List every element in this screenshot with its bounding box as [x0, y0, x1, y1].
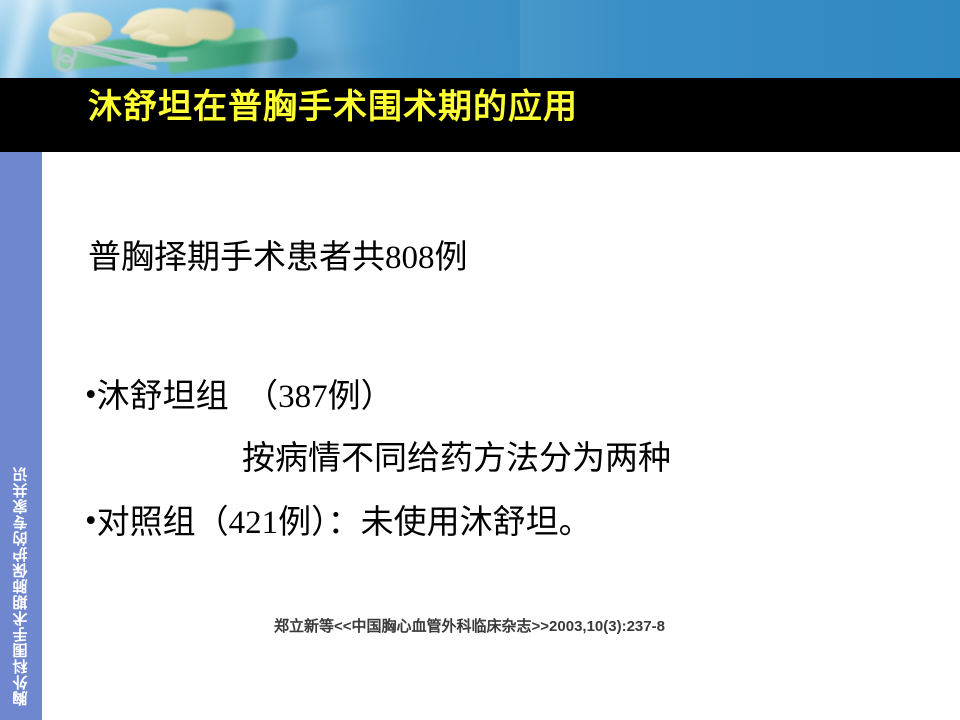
sidebar: 胸外科围手术期肺保护的专家共识: [0, 152, 42, 720]
surgery-photo: [0, 0, 520, 78]
bullet-marker-icon: •: [85, 377, 97, 413]
photo-blue-fade: [0, 0, 520, 78]
source-citation: 郑立新等<<中国胸心血管外科临床杂志>>2003,10(3):237-8: [274, 615, 665, 636]
bullet-text: 沐舒坦组 （387例）: [97, 379, 394, 415]
treatment-group-detail: 按病情不同给药方法分为两种: [242, 438, 671, 480]
bullet-item-treatment-group: •沐舒坦组 （387例）: [85, 374, 394, 418]
header-blue-fill: [480, 0, 960, 78]
slide-body: 普胸择期手术患者共808例 •沐舒坦组 （387例） 按病情不同给药方法分为两种…: [42, 152, 960, 720]
title-banner: 沐舒坦在普胸手术围术期的应用: [0, 78, 960, 152]
bullet-marker-icon: •: [85, 503, 97, 539]
bullet-item-control-group: •对照组（421例）：未使用沐舒坦。: [85, 500, 592, 544]
lead-statement: 普胸择期手术患者共808例: [88, 237, 468, 279]
presentation-slide: 沐舒坦在普胸手术围术期的应用 胸外科围手术期肺保护的专家共识 普胸择期手术患者共…: [0, 0, 960, 720]
slide-title: 沐舒坦在普胸手术围术期的应用: [88, 88, 578, 128]
bullet-text: 对照组（421例）：未使用沐舒坦。: [97, 505, 592, 541]
header-banner: [0, 0, 960, 78]
sidebar-vertical-label: 胸外科围手术期肺保护的专家共识: [11, 466, 32, 706]
